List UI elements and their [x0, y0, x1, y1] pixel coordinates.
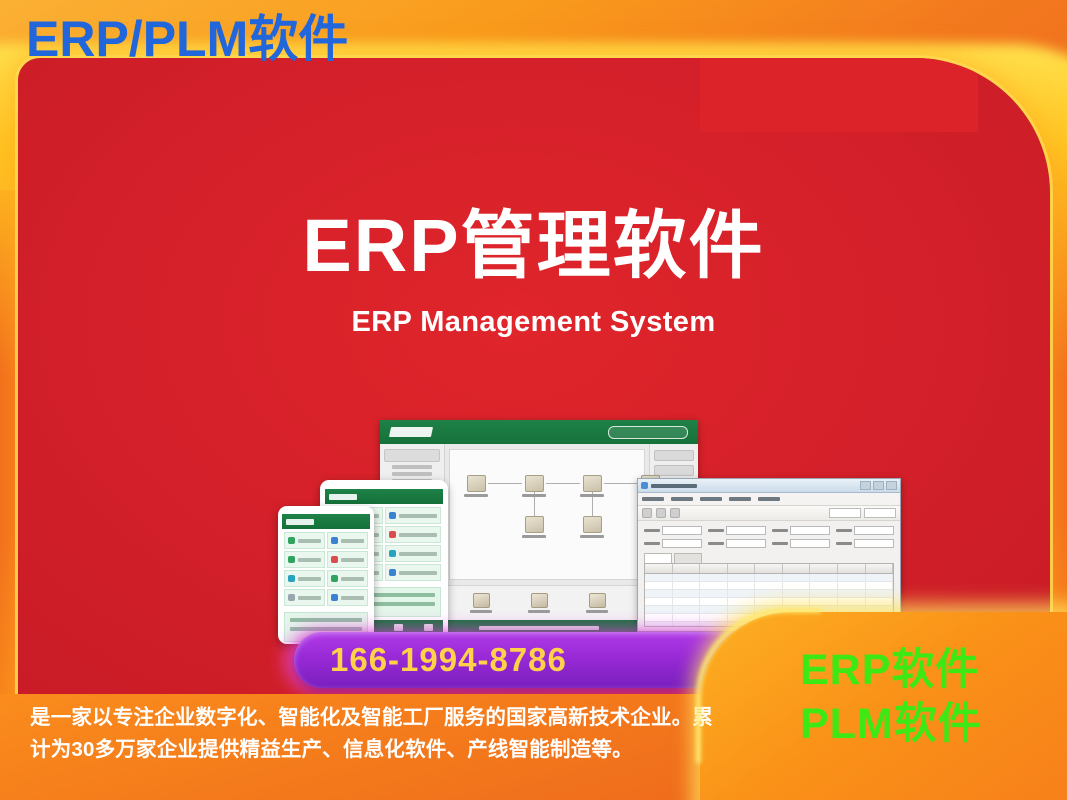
grid-cell: [755, 590, 783, 597]
flow-node: [580, 516, 604, 538]
tab-item: [644, 553, 672, 563]
tile-icon: [389, 569, 396, 576]
window-icon: [641, 482, 648, 489]
form-field: [644, 526, 702, 535]
hero-block: ERP管理软件 ERP Management System: [0, 205, 1067, 339]
grid-cell: [728, 582, 756, 589]
minimize-icon: [860, 481, 871, 490]
tile-label: [399, 514, 437, 518]
red-highlight-patch: [700, 58, 978, 132]
company-description: 是一家以专注企业数字化、智能化及智能工厂服务的国家高新技术企业。累计为30多万家…: [30, 702, 720, 766]
flow-node: [580, 475, 604, 497]
tile-label: [399, 533, 437, 537]
tile-icon: [331, 594, 338, 601]
menu-item: [671, 497, 693, 501]
form-field: [772, 526, 830, 535]
grid-cell: [728, 598, 756, 605]
grid-cell: [866, 590, 894, 597]
grid-row: [645, 598, 893, 606]
grid-header-cell: [728, 564, 756, 573]
grid-cell: [755, 582, 783, 589]
flow-node-label: [522, 535, 546, 538]
grid-header-cell: [866, 564, 894, 573]
form-field: [836, 526, 894, 535]
tile-icon: [288, 537, 295, 544]
field-label: [772, 529, 788, 532]
form-field: [836, 539, 894, 548]
window-menubar: [638, 493, 900, 506]
grid-cell: [838, 574, 866, 581]
field-input: [726, 526, 766, 535]
toolbar-icon: [589, 593, 606, 608]
grid-cell: [645, 622, 673, 627]
toolbar-field: [829, 508, 861, 518]
tile-icon: [288, 575, 295, 582]
field-label: [836, 529, 852, 532]
grid-header-cell: [783, 564, 811, 573]
grid-header-cell: [755, 564, 783, 573]
footer-text: [479, 626, 599, 630]
grid-cell: [700, 590, 728, 597]
toolbar-label: [470, 610, 492, 613]
sidebar-line: [392, 472, 432, 476]
flow-link: [546, 483, 580, 484]
grid-cell: [700, 622, 728, 627]
tile-icon: [389, 550, 396, 557]
tile-label: [298, 577, 321, 581]
grid-cell: [783, 590, 811, 597]
flow-node-icon: [467, 475, 486, 492]
window-titlebar: [638, 479, 900, 493]
grid-cell: [755, 598, 783, 605]
menu-item: [758, 497, 780, 501]
grid-row: [645, 574, 893, 582]
tile-icon: [331, 537, 338, 544]
toolbar-label: [528, 610, 550, 613]
grid-cell: [810, 582, 838, 589]
close-icon: [886, 481, 897, 490]
form-field: [772, 539, 830, 548]
grid-cell: [673, 598, 701, 605]
tile-item: [284, 589, 325, 606]
phone-app-header: [282, 514, 370, 529]
tile-item: [385, 564, 441, 581]
tile-label: [298, 558, 321, 562]
field-input: [726, 539, 766, 548]
workflow-diagram: [450, 450, 644, 579]
grid-cell: [645, 574, 673, 581]
rail-button: [654, 450, 694, 461]
grid-header-cell: [700, 564, 728, 573]
toolbar-field: [864, 508, 896, 518]
flow-link: [488, 483, 522, 484]
flow-node-label: [580, 535, 604, 538]
grid-cell: [645, 590, 673, 597]
tile-item: [327, 589, 368, 606]
field-input: [662, 539, 702, 548]
grid-cell: [783, 582, 811, 589]
grid-cell: [838, 598, 866, 605]
tile-label: [298, 539, 321, 543]
phone-mockup: [278, 506, 374, 644]
tile-icon: [331, 575, 338, 582]
phone-number-text: 166-1994-8786: [330, 641, 567, 679]
flow-node-label: [522, 494, 546, 497]
toolbar-button: [670, 508, 680, 518]
tile-label: [341, 558, 364, 562]
grid-cell: [673, 606, 701, 613]
flow-node: [464, 475, 488, 497]
workflow-canvas: [449, 449, 645, 580]
tile-item: [284, 570, 325, 587]
flow-node-icon: [525, 475, 544, 492]
toolbar-button: [642, 508, 652, 518]
field-input: [854, 539, 894, 548]
tile-label: [341, 596, 364, 600]
toolbar-item: [470, 593, 492, 613]
grid-cell: [755, 574, 783, 581]
flow-node-icon: [583, 516, 602, 533]
app-logo: [329, 494, 357, 500]
grid-cell: [700, 606, 728, 613]
grid-cell: [728, 590, 756, 597]
flow-node: [522, 475, 546, 497]
poster-canvas: ERP/PLM软件 ERP管理软件 ERP Management System: [0, 0, 1067, 800]
field-label: [644, 529, 660, 532]
tile-item: [327, 570, 368, 587]
field-label: [836, 542, 852, 545]
form-field: [644, 539, 702, 548]
flow-node: [522, 516, 546, 538]
product-tag-erp: ERP软件: [800, 644, 982, 698]
form-field: [708, 539, 766, 548]
grid-cell: [838, 590, 866, 597]
tablet-app-header: [325, 489, 443, 504]
tab-item: [674, 553, 702, 563]
tile-item: [327, 551, 368, 568]
grid-cell: [700, 598, 728, 605]
grid-cell: [810, 574, 838, 581]
toolbar-item: [528, 593, 550, 613]
field-label: [644, 542, 660, 545]
grid-cell: [728, 574, 756, 581]
phone-tile-grid: [282, 529, 370, 609]
grid-cell: [866, 598, 894, 605]
field-label: [708, 529, 724, 532]
tile-item: [385, 507, 441, 524]
summary-line: [290, 618, 362, 622]
flow-node-icon: [583, 475, 602, 492]
flow-link: [604, 483, 638, 484]
grid-header-cell: [838, 564, 866, 573]
grid-cell: [866, 574, 894, 581]
app-logo: [286, 519, 314, 525]
form-field: [708, 526, 766, 535]
grid-cell: [645, 598, 673, 605]
grid-cell: [700, 614, 728, 621]
tile-label: [298, 596, 321, 600]
menu-item: [700, 497, 722, 501]
grid-cell: [810, 598, 838, 605]
tile-item: [385, 545, 441, 562]
tile-icon: [331, 556, 338, 563]
tile-item: [385, 526, 441, 543]
grid-header-cell: [645, 564, 673, 573]
top-heading: ERP/PLM软件: [26, 14, 348, 64]
window-controls: [860, 481, 897, 490]
grid-cell: [673, 590, 701, 597]
app-logo: [389, 427, 433, 437]
tile-label: [341, 539, 364, 543]
grid-cell: [866, 582, 894, 589]
field-input: [790, 539, 830, 548]
field-label: [772, 542, 788, 545]
flow-node-label: [464, 494, 488, 497]
hero-title: ERP管理软件: [0, 205, 1067, 286]
field-input: [662, 526, 702, 535]
grid-cell: [700, 574, 728, 581]
field-input: [790, 526, 830, 535]
grid-cell: [673, 622, 701, 627]
tile-label: [399, 552, 437, 556]
window-toolbar: [638, 506, 900, 521]
grid-cell: [838, 582, 866, 589]
grid-cell: [728, 606, 756, 613]
desktop-app-header: [380, 420, 698, 444]
grid-cell: [645, 614, 673, 621]
grid-cell: [783, 598, 811, 605]
window-title: [651, 484, 697, 488]
grid-cell: [673, 574, 701, 581]
sidebar-line: [392, 465, 432, 469]
toolbar-right-group: [829, 508, 896, 518]
maximize-icon: [873, 481, 884, 490]
toolbar-icon: [473, 593, 490, 608]
grid-header-row: [645, 564, 893, 574]
grid-row: [645, 582, 893, 590]
flow-node-icon: [525, 516, 544, 533]
tile-item: [284, 551, 325, 568]
sidebar-tab: [384, 449, 440, 462]
tile-icon: [288, 556, 295, 563]
version-badge: [608, 426, 688, 439]
product-tags: ERP软件 PLM软件: [800, 644, 982, 752]
tile-item: [327, 532, 368, 549]
grid-cell: [673, 614, 701, 621]
grid-cell: [700, 582, 728, 589]
grid-header-cell: [810, 564, 838, 573]
grid-row: [645, 590, 893, 598]
tile-icon: [389, 512, 396, 519]
hero-subtitle: ERP Management System: [0, 306, 1067, 339]
field-label: [708, 542, 724, 545]
grid-cell: [783, 574, 811, 581]
toolbar-icon: [531, 593, 548, 608]
grid-header-cell: [673, 564, 701, 573]
toolbar-item: [586, 593, 608, 613]
product-tag-plm: PLM软件: [800, 698, 982, 752]
menu-item: [642, 497, 664, 501]
tile-label: [399, 571, 437, 575]
tile-icon: [288, 594, 295, 601]
grid-cell: [810, 590, 838, 597]
window-tabs: [638, 551, 900, 563]
menu-item: [729, 497, 751, 501]
toolbar-button: [656, 508, 666, 518]
toolbar-label: [586, 610, 608, 613]
grid-cell: [673, 582, 701, 589]
tile-item: [284, 532, 325, 549]
field-input: [854, 526, 894, 535]
grid-cell: [645, 582, 673, 589]
flow-node-label: [580, 494, 604, 497]
tile-label: [341, 577, 364, 581]
window-form: [638, 521, 900, 551]
tile-icon: [389, 531, 396, 538]
grid-cell: [645, 606, 673, 613]
